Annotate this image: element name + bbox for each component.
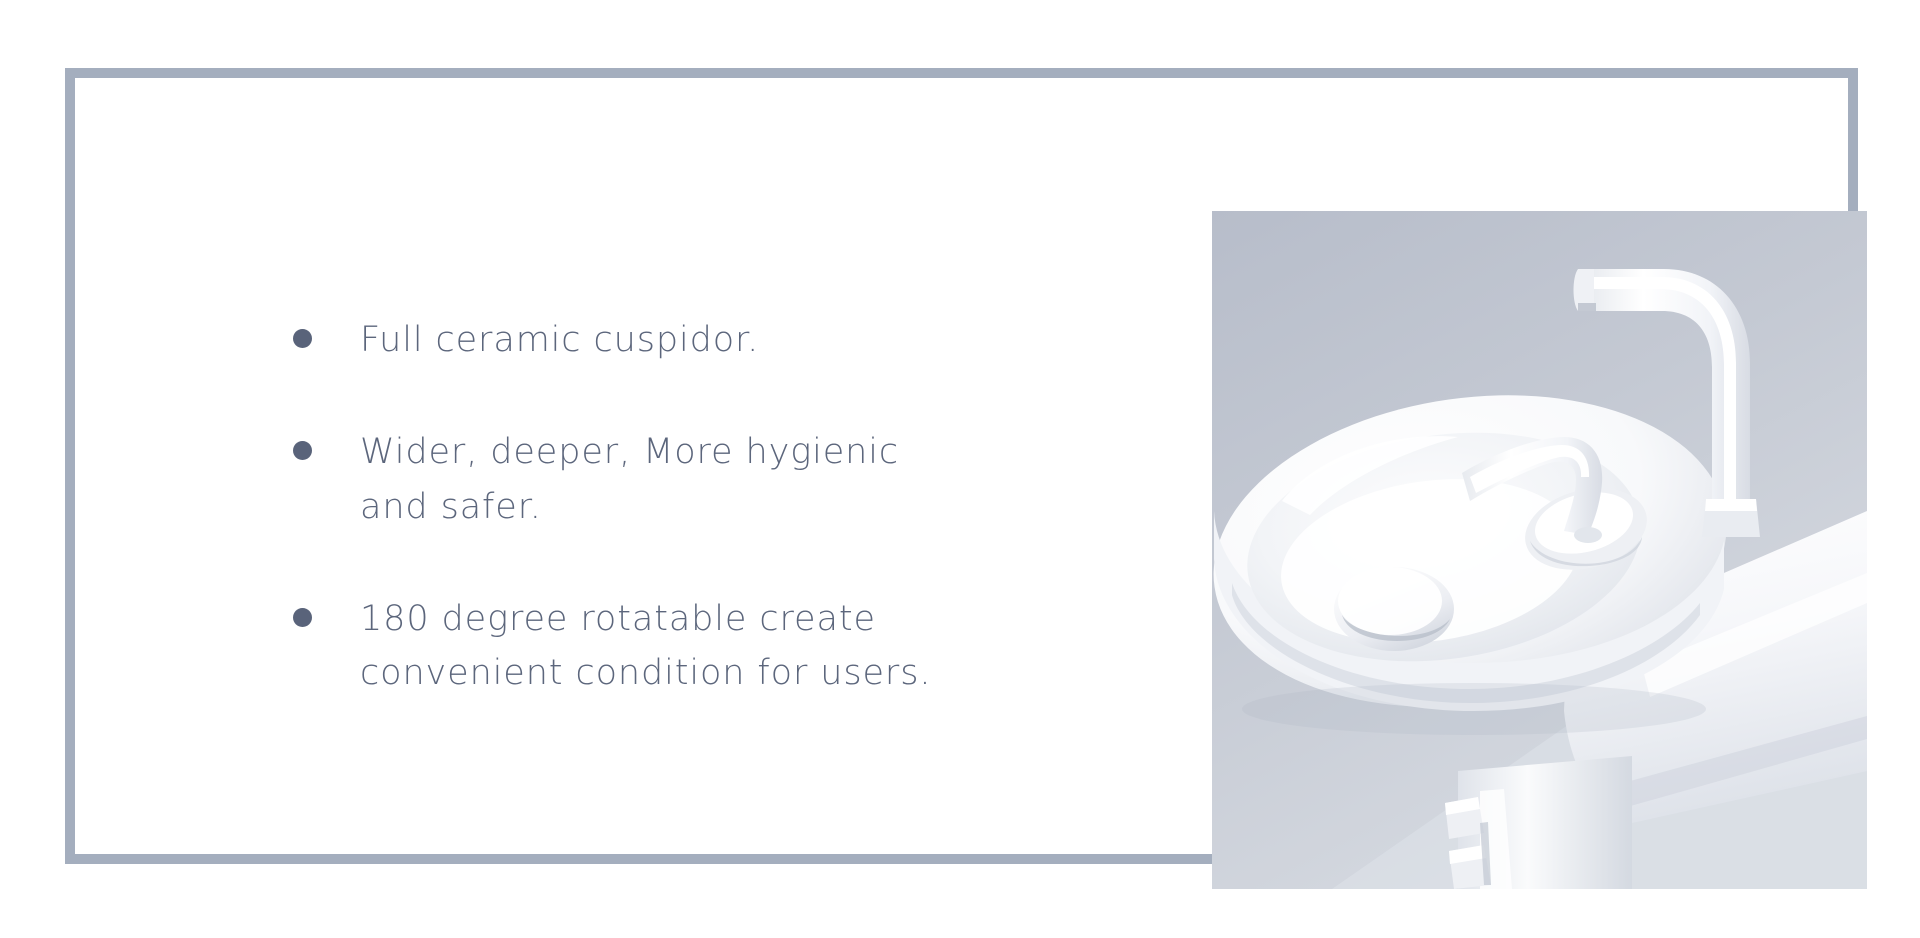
bullet-text-full-ceramic-cuspidor: Full ceramic cuspidor. [360, 313, 759, 367]
bullet-text-wider-deeper-hygienic: Wider, deeper, More hygienic and safer. [360, 425, 899, 534]
bullet-dot-icon [293, 608, 312, 627]
feature-bullet-list: Full ceramic cuspidor. Wider, deeper, Mo… [293, 313, 1053, 700]
product-photo [1212, 211, 1867, 889]
decorative-frame: Full ceramic cuspidor. Wider, deeper, Mo… [65, 68, 1858, 864]
bullet-dot-icon [293, 329, 312, 348]
cuspidor-illustration [1212, 211, 1867, 889]
product-feature-slide: Full ceramic cuspidor. Wider, deeper, Mo… [0, 0, 1920, 938]
bowl-shadow [1242, 683, 1706, 735]
bullet-text-rotatable-180-degree: 180 degree rotatable create convenient c… [360, 592, 931, 701]
bullet-dot-icon [293, 441, 312, 460]
drain-cap [1334, 567, 1454, 651]
list-item: Wider, deeper, More hygienic and safer. [293, 425, 1053, 534]
list-item: 180 degree rotatable create convenient c… [293, 592, 1053, 701]
list-item: Full ceramic cuspidor. [293, 313, 1053, 367]
